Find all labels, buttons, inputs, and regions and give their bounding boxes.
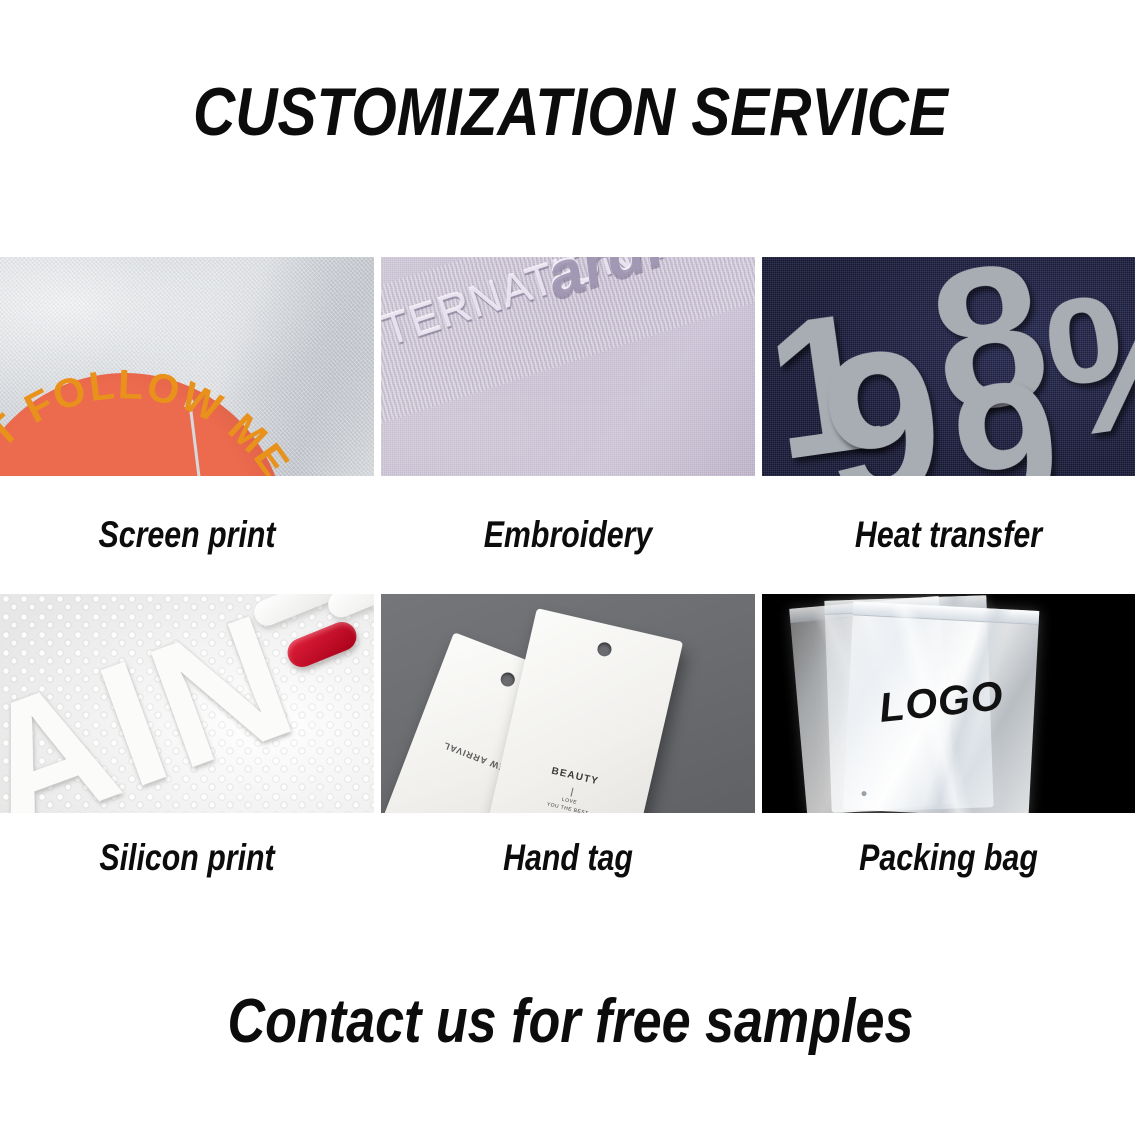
gallery-item-caption: Screen print bbox=[34, 476, 341, 594]
tag-divider bbox=[571, 788, 574, 797]
gallery-item-caption: Heat transfer bbox=[796, 476, 1102, 594]
gallery-item-embroidery[interactable]: TERNATIONA ardi Embroidery bbox=[381, 257, 755, 594]
heat-transfer-image: 1 9 8 9 % bbox=[762, 257, 1135, 476]
gallery-item-silicon-print[interactable]: AIN Silicon print bbox=[0, 594, 374, 903]
embroidery-image: TERNATIONA ardi bbox=[381, 257, 755, 476]
print-arc-text: N'T FOLLOW ME bbox=[0, 315, 300, 476]
customization-service-banner: CUSTOMIZATION SERVICE N bbox=[0, 0, 1141, 1142]
tag-punch-hole bbox=[499, 670, 517, 688]
screen-print-image: N'T FOLLOW ME bbox=[0, 257, 374, 476]
footer-call-to-action: Contact us for free samples bbox=[91, 985, 1049, 1059]
gallery-item-caption: Hand tag bbox=[415, 813, 722, 903]
tag-punch-hole bbox=[596, 641, 613, 658]
gallery-row: N'T FOLLOW ME Screen print TERNATIONA ar… bbox=[0, 257, 1141, 594]
hang-tag-card-right: BEAUTY LOVE YOU THE BEST bbox=[485, 608, 683, 813]
hand-tag-image: NEW ARRIVAL BEAUTY LOVE YOU THE BEST bbox=[381, 594, 755, 813]
gallery-item-hand-tag[interactable]: NEW ARRIVAL BEAUTY LOVE YOU THE BEST Han… bbox=[381, 594, 755, 903]
svg-text:N'T FOLLOW ME: N'T FOLLOW ME bbox=[0, 361, 299, 476]
packing-bag-image: LOGO bbox=[762, 594, 1135, 813]
gallery-item-screen-print[interactable]: N'T FOLLOW ME Screen print bbox=[0, 257, 374, 594]
gallery-item-caption: Silicon print bbox=[34, 813, 341, 903]
gallery-item-heat-transfer[interactable]: 1 9 8 9 % Heat transfer bbox=[762, 257, 1135, 594]
gallery-item-packing-bag[interactable]: LOGO Packing bag bbox=[762, 594, 1135, 903]
service-gallery: N'T FOLLOW ME Screen print TERNATIONA ar… bbox=[0, 257, 1141, 903]
gallery-row: AIN Silicon print NEW ARRIVAL BEAUTY LOV… bbox=[0, 594, 1141, 903]
silicon-print-image: AIN bbox=[0, 594, 374, 813]
poly-bag-front: LOGO bbox=[843, 601, 1040, 813]
gallery-item-caption: Embroidery bbox=[415, 476, 722, 594]
page-title: CUSTOMIZATION SERVICE bbox=[80, 72, 1061, 152]
gallery-item-caption: Packing bag bbox=[796, 813, 1102, 903]
